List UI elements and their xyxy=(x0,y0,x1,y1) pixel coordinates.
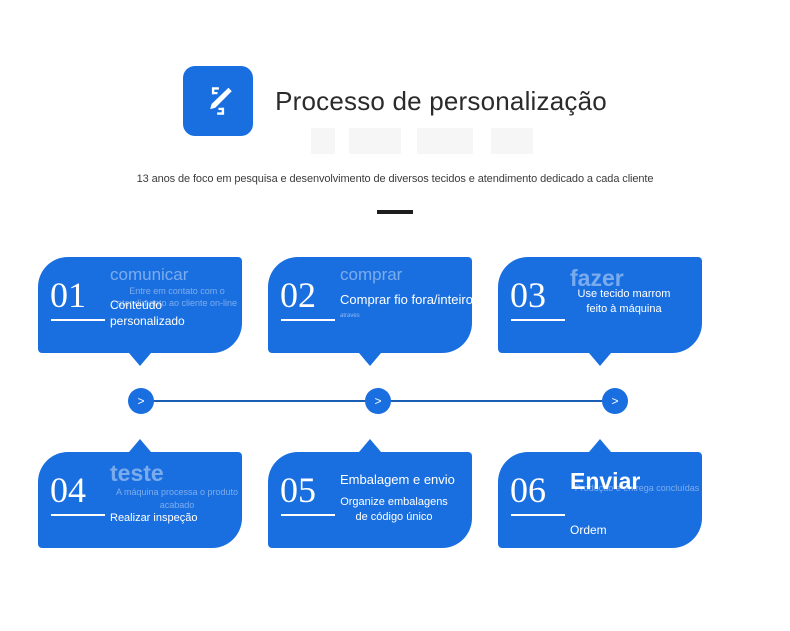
step-card-06[interactable]: 06 Produção e entrega concluídas Enviar … xyxy=(498,452,702,548)
step-foreground-layer: Realizar inspeção xyxy=(110,511,234,526)
step-number: 02 xyxy=(268,257,340,313)
step-content: Produção e entrega concluídas Enviar Ord… xyxy=(570,452,702,539)
step-description: Comprar fio fora/inteiro xyxy=(340,291,464,309)
title-underline-rule xyxy=(377,210,413,214)
step-content: teste A máquina processa o produto acaba… xyxy=(110,452,242,526)
step-card-03[interactable]: 03 fazer Use tecido marrom feito à máqui… xyxy=(498,257,702,353)
step-connector: > > > xyxy=(128,388,628,414)
step-tail-text: Conteúdo personalizado xyxy=(110,297,234,329)
step-content: comprar Comprar fio fora/inteiro através xyxy=(340,257,472,320)
chevron-right-icon-1[interactable]: > xyxy=(128,388,154,414)
customization-process-page: Processo de personalização 13 anos de fo… xyxy=(0,0,790,631)
step-number: 05 xyxy=(268,452,340,508)
step-foreground-layer: Enviar Ordem xyxy=(570,460,694,539)
step-ghost-heading: teste xyxy=(110,460,262,486)
step-heading: Embalagem e envio xyxy=(340,472,464,489)
page-subtitle: 13 anos de foco em pesquisa e desenvolvi… xyxy=(0,173,790,185)
step-number: 06 xyxy=(498,452,570,508)
step-card-05[interactable]: 05 Embalagem e envio Organize embalagens… xyxy=(268,452,472,548)
step-ghost-description: A máquina processa o produto acabado xyxy=(110,486,262,510)
step-foreground-layer: Use tecido marrom feito à máquina xyxy=(570,287,694,317)
pencil-design-icon xyxy=(183,66,253,136)
step-ghost-heading: comunicar xyxy=(110,265,262,285)
step-foreground-layer: Embalagem e envio Organize embalagens de… xyxy=(340,460,464,525)
step-content: fazer Use tecido marrom feito à máquina xyxy=(570,257,702,317)
step-tiny-text: através xyxy=(340,313,464,320)
page-title: Processo de personalização xyxy=(275,88,607,114)
step-foreground-layer: Comprar fio fora/inteiro através xyxy=(340,291,464,320)
chevron-right-icon-2[interactable]: > xyxy=(365,388,391,414)
step-foreground-layer: Conteúdo personalizado xyxy=(110,297,234,329)
step-ghost-layer: teste A máquina processa o produto acaba… xyxy=(110,460,262,511)
step-number: 01 xyxy=(38,257,110,313)
step-description: Organize embalagens de código único xyxy=(340,495,464,525)
step-heading: Enviar xyxy=(570,468,694,494)
step-tail-text: Realizar inspeção xyxy=(110,511,234,526)
step-card-01[interactable]: 01 comunicar Entre em contato com o aten… xyxy=(38,257,242,353)
step-card-04[interactable]: 04 teste A máquina processa o produto ac… xyxy=(38,452,242,548)
step-description: Use tecido marrom feito à máquina xyxy=(570,287,694,317)
step-ghost-heading: comprar xyxy=(340,265,492,285)
step-number: 03 xyxy=(498,257,570,313)
step-cards-row-top: 01 comunicar Entre em contato com o aten… xyxy=(38,257,752,353)
step-card-02[interactable]: 02 comprar Comprar fio fora/inteiro atra… xyxy=(268,257,472,353)
chevron-right-icon-3[interactable]: > xyxy=(602,388,628,414)
page-header: Processo de personalização xyxy=(0,62,790,162)
step-content: comunicar Entre em contato com o atendim… xyxy=(110,257,242,329)
step-number: 04 xyxy=(38,452,110,508)
step-cards-row-bottom: 04 teste A máquina processa o produto ac… xyxy=(38,452,752,548)
step-content: Embalagem e envio Organize embalagens de… xyxy=(340,452,472,525)
step-tail-text: Ordem xyxy=(570,522,694,538)
step-ghost-layer: comprar xyxy=(340,265,492,285)
